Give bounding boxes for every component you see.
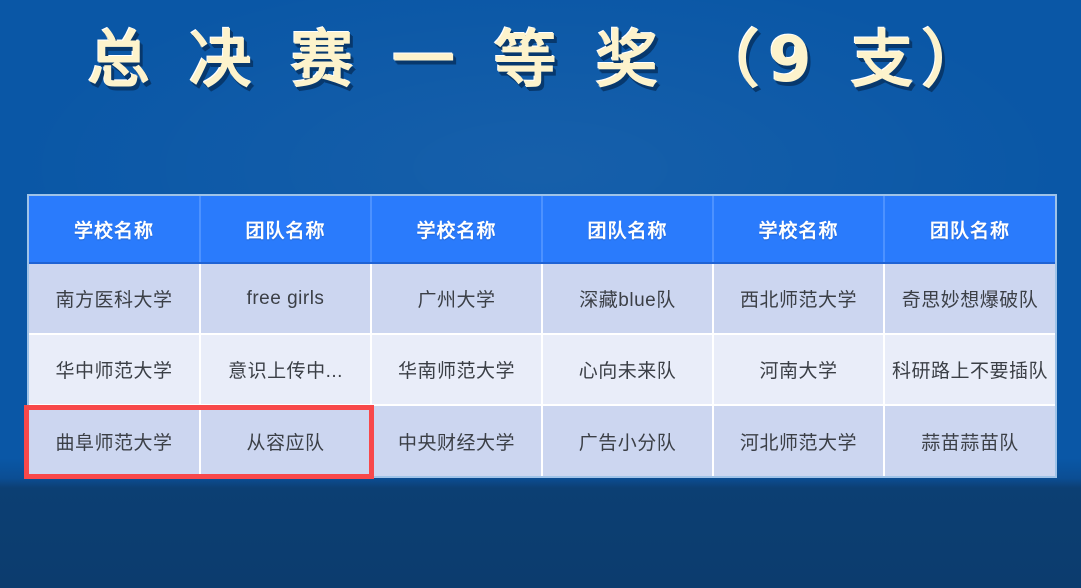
cell-school: 中央财经大学 bbox=[371, 405, 542, 476]
cell-team: 奇思妙想爆破队 bbox=[884, 263, 1055, 334]
column-header-school-2: 学校名称 bbox=[371, 196, 542, 263]
table-row: 华中师范大学 意识上传中... 华南师范大学 心向未来队 河南大学 科研路上不要… bbox=[29, 334, 1055, 405]
column-header-team-2: 团队名称 bbox=[542, 196, 713, 263]
cell-school: 西北师范大学 bbox=[713, 263, 884, 334]
cell-team: 科研路上不要插队 bbox=[884, 334, 1055, 405]
cell-school: 河北师范大学 bbox=[713, 405, 884, 476]
award-table: 学校名称 团队名称 学校名称 团队名称 学校名称 团队名称 南方医科大学 fre… bbox=[29, 196, 1055, 476]
cell-school: 华南师范大学 bbox=[371, 334, 542, 405]
table-row-highlighted: 曲阜师范大学 从容应队 中央财经大学 广告小分队 河北师范大学 蒜苗蒜苗队 bbox=[29, 405, 1055, 476]
table-header-row: 学校名称 团队名称 学校名称 团队名称 学校名称 团队名称 bbox=[29, 196, 1055, 263]
cell-school: 广州大学 bbox=[371, 263, 542, 334]
column-header-school-3: 学校名称 bbox=[713, 196, 884, 263]
title-container: 总 决 赛 一 等 奖 （9 支） bbox=[0, 26, 1081, 94]
table-row: 南方医科大学 free girls 广州大学 深藏blue队 西北师范大学 奇思… bbox=[29, 263, 1055, 334]
cell-school: 南方医科大学 bbox=[29, 263, 200, 334]
cell-team: 心向未来队 bbox=[542, 334, 713, 405]
award-table-container: 学校名称 团队名称 学校名称 团队名称 学校名称 团队名称 南方医科大学 fre… bbox=[27, 194, 1057, 478]
table-head: 学校名称 团队名称 学校名称 团队名称 学校名称 团队名称 bbox=[29, 196, 1055, 263]
cell-school: 曲阜师范大学 bbox=[29, 405, 200, 476]
cell-team: 广告小分队 bbox=[542, 405, 713, 476]
cell-team: free girls bbox=[200, 263, 371, 334]
cell-team: 从容应队 bbox=[200, 405, 371, 476]
cell-team: 深藏blue队 bbox=[542, 263, 713, 334]
slide-canvas: 总 决 赛 一 等 奖 （9 支） 学校名称 团队名称 学校名称 团队名称 学校… bbox=[0, 0, 1081, 588]
page-title: 总 决 赛 一 等 奖 （9 支） bbox=[88, 26, 993, 94]
column-header-team-3: 团队名称 bbox=[884, 196, 1055, 263]
cell-team: 意识上传中... bbox=[200, 334, 371, 405]
cell-school: 华中师范大学 bbox=[29, 334, 200, 405]
column-header-team-1: 团队名称 bbox=[200, 196, 371, 263]
column-header-school-1: 学校名称 bbox=[29, 196, 200, 263]
cell-school: 河南大学 bbox=[713, 334, 884, 405]
cell-team: 蒜苗蒜苗队 bbox=[884, 405, 1055, 476]
table-body: 南方医科大学 free girls 广州大学 深藏blue队 西北师范大学 奇思… bbox=[29, 263, 1055, 476]
